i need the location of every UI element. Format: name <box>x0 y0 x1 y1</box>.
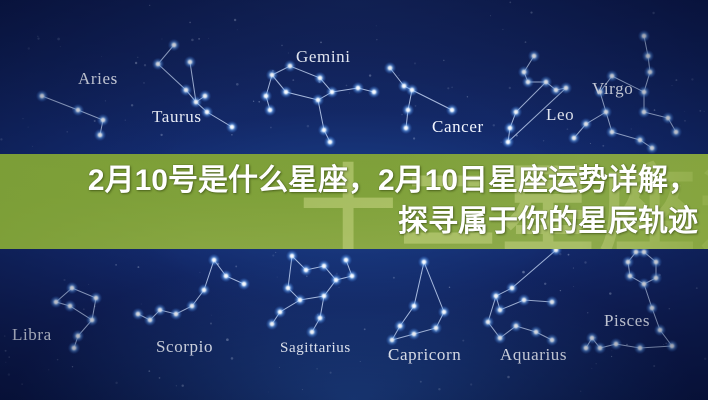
constellation-pisces: Pisces <box>580 246 678 354</box>
constellation-cancer: Cancer <box>384 62 484 136</box>
constellation-label-leo: Leo <box>546 105 574 124</box>
page-title: 2月10号是什么星座，2月10日星座运势详解，探寻属于你的星辰轨迹 <box>0 160 708 242</box>
constellation-label-taurus: Taurus <box>152 107 202 126</box>
constellation-label-sagittarius: Sagittarius <box>280 340 351 356</box>
constellation-aries: Aries <box>36 69 118 141</box>
constellation-capricorn: Capricorn <box>386 256 462 364</box>
constellation-libra: Libra <box>12 282 102 354</box>
constellation-label-virgo: Virgo <box>592 79 633 98</box>
constellation-label-pisces: Pisces <box>604 311 650 330</box>
constellation-gemini: Gemini <box>260 47 380 148</box>
headline-line-1: 2月10号是什么星座，2月10日星座运势详解， <box>88 164 698 197</box>
constellation-label-gemini: Gemini <box>296 47 351 66</box>
constellation-label-capricorn: Capricorn <box>388 345 461 364</box>
constellation-label-cancer: Cancer <box>432 117 484 136</box>
headline-line-2: 探寻属于你的星辰轨迹 <box>398 205 698 238</box>
constellation-taurus: Taurus <box>152 39 238 133</box>
constellation-virgo: Virgo <box>568 30 682 154</box>
constellation-leo: Leo <box>502 50 574 148</box>
constellation-sagittarius: Sagittarius <box>266 250 358 356</box>
constellation-label-aries: Aries <box>78 69 118 88</box>
zodiac-banner-image: Aries Taurus Gemini Cancer <box>0 0 708 400</box>
constellation-label-aquarius: Aquarius <box>500 345 567 364</box>
constellation-aquarius: Aquarius <box>482 244 567 364</box>
constellation-label-libra: Libra <box>12 325 52 344</box>
constellation-scorpio: Scorpio <box>132 254 250 356</box>
constellation-label-scorpio: Scorpio <box>156 337 213 356</box>
